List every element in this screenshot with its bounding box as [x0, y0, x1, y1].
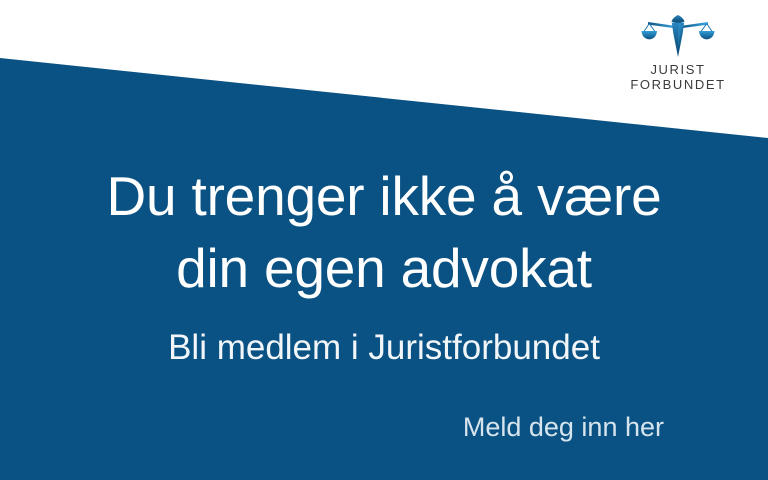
headline-line-1: Du trenger ikke å være — [0, 160, 768, 232]
advertisement-banner[interactable]: JURIST FORBUNDET Du trenger ikke å være … — [0, 0, 768, 480]
cta-link[interactable]: Meld deg inn her — [463, 411, 664, 444]
subheadline: Bli medlem i Juristforbundet — [0, 327, 768, 369]
headline: Du trenger ikke å være din egen advokat — [0, 160, 768, 304]
headline-line-2: din egen advokat — [0, 232, 768, 304]
banner-content: Du trenger ikke å være din egen advokat … — [0, 0, 768, 480]
